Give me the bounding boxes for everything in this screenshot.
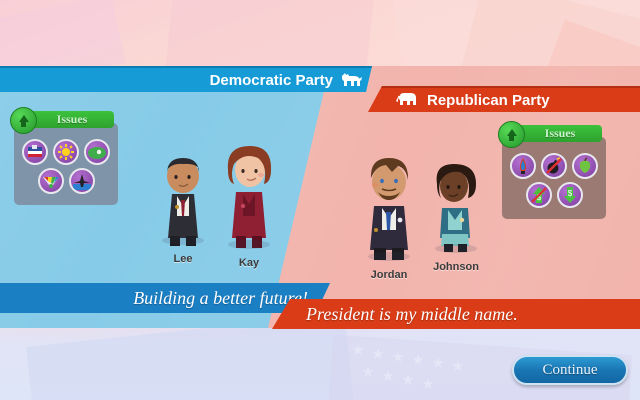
candidate-johnson[interactable]: Johnson [424,160,488,273]
issues-label-dem: Issues [30,111,114,128]
no-bomb-icon[interactable] [541,153,567,179]
equality-icon[interactable] [38,168,64,194]
republican-issue-icons: $ $ [502,153,606,211]
green-up-arrow-icon[interactable] [10,107,37,134]
green-up-arrow-icon[interactable] [498,121,525,148]
healthcare-icon[interactable] [22,139,48,165]
candidate-avatar [152,150,214,250]
agriculture-apple-icon[interactable] [572,153,598,179]
continue-button[interactable]: Continue [512,355,628,385]
party-selection-screen: Democratic Party Republican Party Issues [0,0,640,400]
environment-icon[interactable] [84,139,110,165]
democratic-slogan-text: Building a better future! [133,288,308,309]
oil-drill-icon[interactable] [510,153,536,179]
republican-slogan-text: President is my middle name. [306,304,518,325]
no-tax-increase-icon[interactable]: $ [526,182,552,208]
elephant-icon [396,92,418,108]
issues-label-rep: Issues [518,125,602,142]
candidate-jordan[interactable]: Jordan [352,152,426,281]
tax-cut-icon[interactable]: $ [557,182,583,208]
republican-party-banner: Republican Party [368,86,640,112]
republican-issues-panel[interactable]: Issues $ $ [502,137,606,219]
candidate-name: Kay [214,257,284,269]
candidate-lee[interactable]: Lee [152,150,214,265]
candidate-kay[interactable]: Kay [214,140,284,269]
donkey-icon [340,72,362,88]
candidate-avatar [214,140,284,254]
candidate-avatar [352,152,426,266]
republican-slogan: President is my middle name. [272,299,640,329]
democratic-issues-panel[interactable]: Issues [14,123,118,205]
republican-party-label: Republican Party [427,92,550,109]
democratic-issue-icons [14,139,118,197]
candidate-name: Jordan [352,269,426,281]
continue-button-label: Continue [543,362,598,379]
energy-sun-icon[interactable] [53,139,79,165]
military-icon[interactable] [69,168,95,194]
democratic-slogan: Building a better future! [0,283,330,313]
democratic-party-banner: Democratic Party [0,66,372,92]
candidate-name: Lee [152,253,214,265]
democratic-party-label: Democratic Party [210,72,333,89]
candidate-name: Johnson [424,261,488,273]
svg-text:$: $ [567,189,572,198]
